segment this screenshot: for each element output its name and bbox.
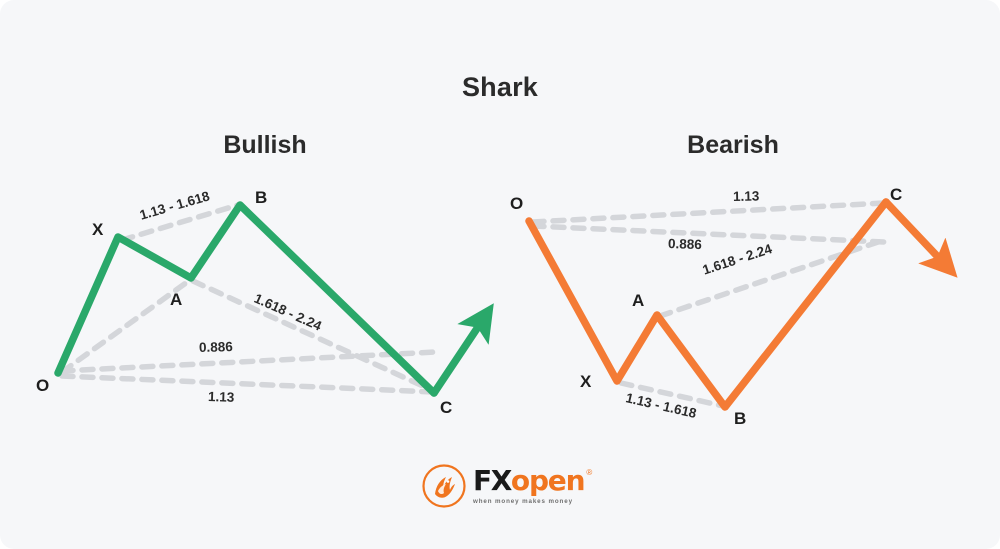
- fxopen-logo[interactable]: FX open ® when money makes money: [422, 462, 592, 510]
- bullish-point-label-o: O: [36, 376, 49, 396]
- bullish-projection-arrow: [434, 327, 478, 393]
- bearish-ratio-o-c-lower: 0.886: [668, 236, 702, 252]
- bullish-ratio-o-c-upper: 0.886: [199, 339, 233, 355]
- bearish-projection-arrow: [886, 202, 938, 257]
- bullish-dashed-legs: [62, 205, 436, 392]
- page-title: Shark: [0, 72, 1000, 103]
- diagram-canvas: Shark Bullish Bearish O X A B C 1.13 - 1…: [0, 0, 1000, 549]
- bullish-leg-o-c-lower: [62, 376, 434, 392]
- bearish-ratio-o-c-upper: 1.13: [733, 189, 760, 204]
- bearish-point-label-c: C: [890, 185, 902, 205]
- logo-tagline: when money makes money: [473, 498, 592, 505]
- panel-title-bearish: Bearish: [618, 131, 848, 160]
- registered-trademark-icon: ®: [586, 469, 592, 477]
- bearish-leg-o-c-lower: [533, 226, 884, 242]
- logo-text-open: open: [511, 467, 584, 495]
- panel-title-bullish: Bullish: [150, 131, 380, 160]
- bearish-point-label-o: O: [510, 194, 523, 214]
- bullish-ratio-o-c-lower: 1.13: [208, 389, 235, 405]
- bearish-point-label-b: B: [734, 409, 746, 429]
- bearish-leg-o-c-upper: [533, 203, 884, 222]
- bullish-point-label-b: B: [255, 188, 267, 208]
- bearish-point-label-x: X: [580, 372, 591, 392]
- bullish-point-label-a: A: [170, 290, 182, 310]
- bullish-point-label-x: X: [92, 220, 103, 240]
- fxopen-wordmark: FX open ® when money makes money: [473, 464, 592, 508]
- bullish-point-label-c: C: [440, 398, 452, 418]
- logo-text-fx: FX: [473, 467, 511, 495]
- bullish-leg-a-c: [193, 281, 436, 392]
- fxopen-tiger-emblem-icon: [422, 464, 466, 508]
- bearish-point-label-a: A: [632, 291, 644, 311]
